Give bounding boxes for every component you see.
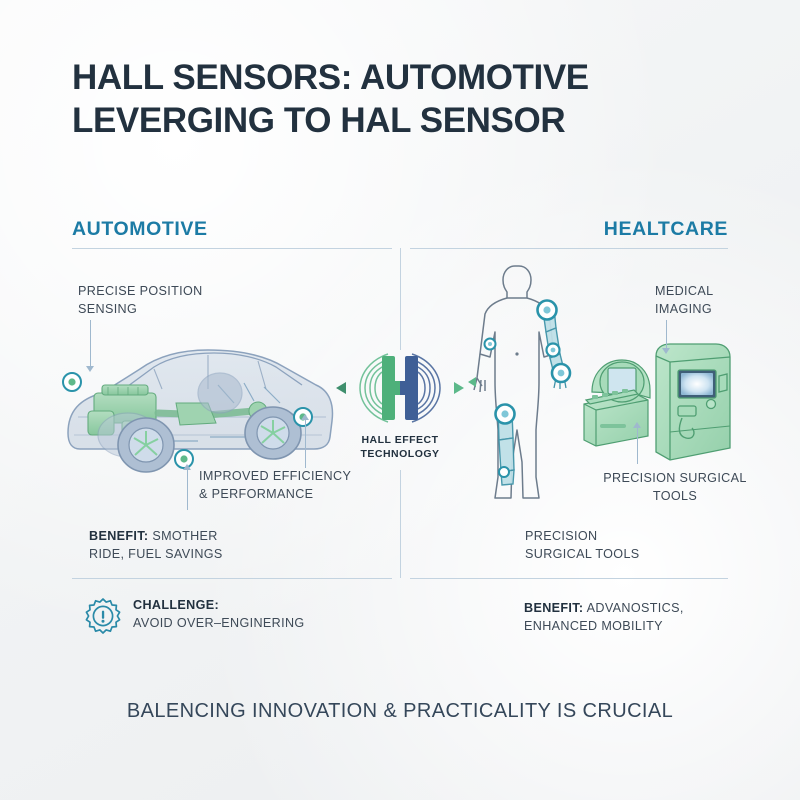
benefit-label-left: BENEFIT:	[89, 529, 148, 543]
annotation-precise-position-sensing: PRECISE POSITION SENSING	[78, 283, 238, 319]
challenge-label: CHALLENGE:	[133, 598, 219, 612]
medical-imaging-line-2: IMAGING	[655, 302, 712, 316]
challenge-row-automotive: CHALLENGE: AVOID OVER–ENGINERING	[84, 596, 305, 634]
precise-position-line-2: SENSING	[78, 302, 137, 316]
challenge-text: AVOID OVER–ENGINERING	[133, 616, 305, 630]
title-line-1: HALL SENSORS: AUTOMOTIVE	[72, 56, 712, 99]
improved-efficiency-line-2: & PERFORMANCE	[199, 487, 313, 501]
xray-car-icon	[58, 325, 340, 480]
divider-vertical-lower	[400, 470, 401, 578]
benefit-text-left-line-1: SMOTHER	[148, 529, 217, 543]
gear-alert-icon	[84, 596, 122, 634]
human-prosthetics-icon	[468, 262, 586, 510]
leader-arrow-efficiency	[183, 464, 191, 470]
annotation-medical-imaging: MEDICAL IMAGING	[655, 283, 775, 319]
infographic-poster: HALL SENSORS: AUTOMOTIVE LEVERGING TO HA…	[0, 0, 800, 800]
hall-caption-line-1: HALL EFFECT	[361, 434, 438, 446]
surgical-tools-line-2: TOOLS	[653, 489, 697, 503]
annotation-improved-efficiency: IMPROVED EFFICIENCY & PERFORMANCE	[199, 468, 379, 504]
divider-left-bottom	[72, 578, 392, 579]
section-header-automotive: AUTOMOTIVE	[72, 218, 208, 241]
hall-effect-caption: HALL EFFECT TECHNOLOGY	[330, 434, 470, 461]
divider-right-top	[410, 248, 728, 249]
leader-line-efficiency	[187, 470, 188, 510]
annotation-precision-surgical-tools: PRECISION SURGICAL TOOLS	[590, 470, 760, 506]
hall-caption-line-2: TECHNOLOGY	[360, 448, 439, 460]
leader-line-position-sensing	[90, 320, 91, 368]
leader-arrow-rear-sensor	[301, 414, 309, 420]
footer-tagline: BALENCING INNOVATION & PRACTICALITY IS C…	[0, 700, 800, 723]
surgical-tools-alt-line-1: PRECISION	[525, 529, 597, 543]
medical-equipment-icon	[578, 332, 736, 470]
annotation-benefit-automotive: BENEFIT: SMOTHER RIDE, FUEL SAVINGS	[89, 528, 289, 564]
benefit-text-left-line-2: RIDE, FUEL SAVINGS	[89, 547, 223, 561]
leader-arrow-position-sensing	[86, 366, 94, 372]
benefit-text-right-line-2: ENHANCED MOBILITY	[524, 619, 663, 633]
divider-left-top	[72, 248, 392, 249]
leader-line-medical-imaging	[666, 320, 667, 350]
hall-effect-icon: HALL EFFECT TECHNOLOGY	[330, 338, 470, 470]
precise-position-line-1: PRECISE POSITION	[78, 284, 203, 298]
title-line-2: LEVERGING TO HAL SENSOR	[72, 99, 712, 142]
leader-line-surgical-tools	[637, 428, 638, 464]
leader-line-rear-sensor	[305, 420, 306, 468]
divider-right-bottom	[410, 578, 728, 579]
page-title: HALL SENSORS: AUTOMOTIVE LEVERGING TO HA…	[72, 56, 712, 142]
section-header-healthcare: HEALTCARE	[604, 218, 728, 241]
benefit-text-right-line-1: ADVANOSTICS,	[583, 601, 683, 615]
annotation-benefit-healthcare: BENEFIT: ADVANOSTICS, ENHANCED MOBILITY	[524, 600, 734, 636]
medical-imaging-line-1: MEDICAL	[655, 284, 713, 298]
annotation-precision-surgical-tools-alt: PRECISION SURGICAL TOOLS	[525, 528, 715, 564]
surgical-tools-line-1: PRECISION SURGICAL	[603, 471, 746, 485]
leader-arrow-surgical-tools	[633, 422, 641, 428]
divider-vertical-upper	[400, 248, 401, 350]
leader-arrow-medical-imaging	[662, 348, 670, 354]
annotation-challenge-automotive: CHALLENGE: AVOID OVER–ENGINERING	[133, 597, 305, 633]
improved-efficiency-line-1: IMPROVED EFFICIENCY	[199, 469, 351, 483]
surgical-tools-alt-line-2: SURGICAL TOOLS	[525, 547, 640, 561]
benefit-label-right: BENEFIT:	[524, 601, 583, 615]
